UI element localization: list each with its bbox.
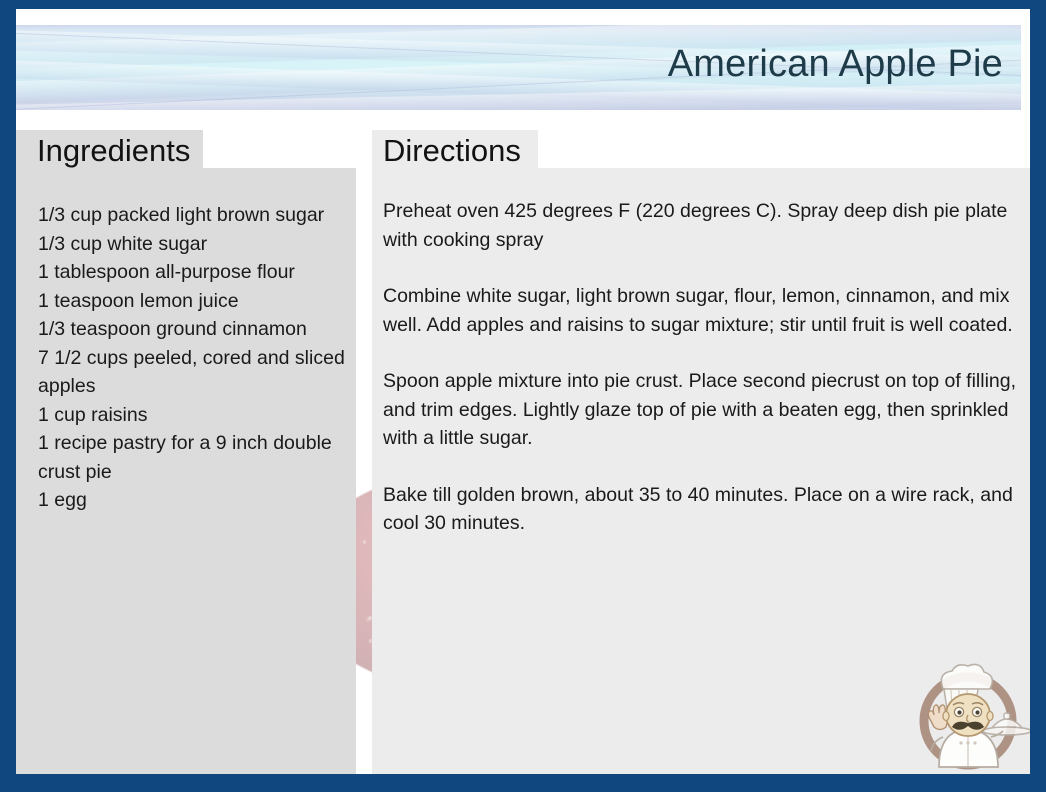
ingredients-heading-backdrop	[203, 130, 356, 168]
directions-body: Preheat oven 425 degrees F (220 degrees …	[383, 197, 1030, 538]
direction-paragraph: Combine white sugar, light brown sugar, …	[383, 282, 1030, 339]
ingredient-item: 1 egg	[38, 486, 368, 515]
apple-speckle	[368, 586, 370, 588]
ingredient-item: 1 teaspoon lemon juice	[38, 287, 368, 316]
ingredient-item: 1/3 cup white sugar	[38, 230, 368, 259]
slide-canvas: American Apple Pie Ingredients 1/3 cup p…	[16, 9, 1030, 774]
directions-heading: Directions	[383, 133, 521, 169]
directions-heading-backdrop	[538, 130, 1030, 168]
ingredient-item: 1/3 teaspoon ground cinnamon	[38, 315, 368, 344]
ingredients-panel: Ingredients 1/3 cup packed light brown s…	[16, 130, 356, 774]
apple-speckle	[363, 540, 367, 544]
ingredient-item: 1 cup raisins	[38, 401, 368, 430]
direction-paragraph: Spoon apple mixture into pie crust. Plac…	[383, 367, 1030, 453]
recipe-slide: American Apple Pie Ingredients 1/3 cup p…	[0, 0, 1046, 792]
ingredient-item: 1 tablespoon all-purpose flour	[38, 258, 368, 287]
ingredient-item: 1 recipe pastry for a 9 inch double crus…	[38, 429, 368, 486]
header-banner: American Apple Pie	[16, 25, 1021, 110]
ingredient-item: 1/3 cup packed light brown sugar	[38, 201, 368, 230]
direction-paragraph: Preheat oven 425 degrees F (220 degrees …	[383, 197, 1030, 254]
page-title: American Apple Pie	[668, 43, 1003, 86]
ingredients-heading: Ingredients	[37, 133, 190, 169]
ingredient-item: 7 1/2 cups peeled, cored and sliced appl…	[38, 344, 368, 401]
direction-paragraph: Bake till golden brown, about 35 to 40 m…	[383, 481, 1030, 538]
ingredients-list: 1/3 cup packed light brown sugar1/3 cup …	[38, 201, 368, 515]
apple-speckle	[366, 618, 369, 621]
chef-mascot-logo	[913, 659, 1030, 774]
